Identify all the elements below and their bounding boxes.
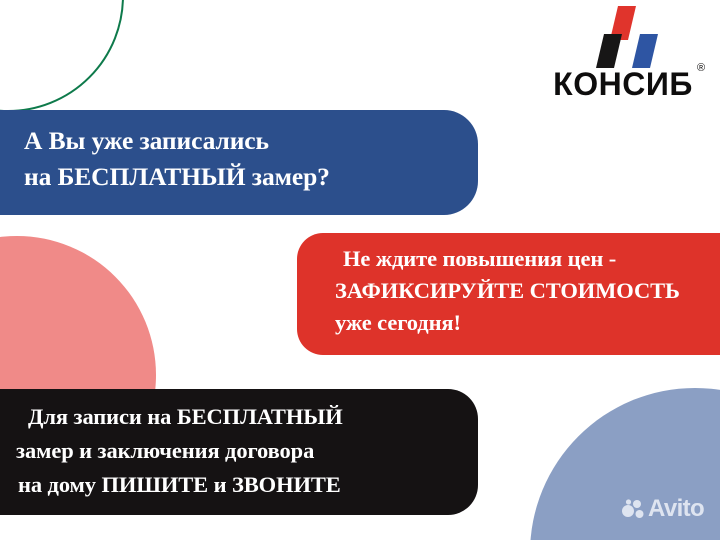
banner-red-line-3: уже сегодня! — [335, 307, 720, 339]
headline-banner-red: Не ждите повышения цен - ЗАФИКСИРУЙТЕ СТ… — [297, 233, 720, 355]
registered-trademark-icon: ® — [697, 62, 705, 74]
headline-banner-blue: А Вы уже записались на БЕСПЛАТНЫЙ замер? — [0, 110, 478, 215]
brand-wordmark: КОНСИБ — [530, 66, 716, 103]
banner-red-line-1: Не ждите повышения цен - — [335, 243, 720, 275]
headline-banner-black: Для записи на БЕСПЛАТНЫЙ замер и заключе… — [0, 389, 478, 515]
poster-canvas: А Вы уже записались на БЕСПЛАТНЫЙ замер?… — [0, 0, 720, 540]
banner-black-line-3: на дому ПИШИТЕ и ЗВОНИТЕ — [16, 468, 478, 502]
banner-black-line-1: Для записи на БЕСПЛАТНЫЙ — [16, 400, 478, 434]
green-ring-decoration — [0, 0, 124, 112]
konsib-logo-mark-icon — [588, 6, 664, 68]
avito-watermark-label: Avito — [648, 497, 704, 521]
avito-dots-icon — [622, 499, 644, 519]
banner-blue-line-2: на БЕСПЛАТНЫЙ замер? — [16, 159, 478, 195]
banner-red-line-2: ЗАФИКСИРУЙТЕ СТОИМОСТЬ — [335, 275, 720, 307]
banner-black-line-2: замер и заключения договора — [16, 434, 478, 468]
avito-watermark: Avito — [622, 497, 704, 521]
brand-logo: КОНСИБ ® — [530, 6, 716, 106]
banner-blue-line-1: А Вы уже записались — [16, 123, 478, 159]
